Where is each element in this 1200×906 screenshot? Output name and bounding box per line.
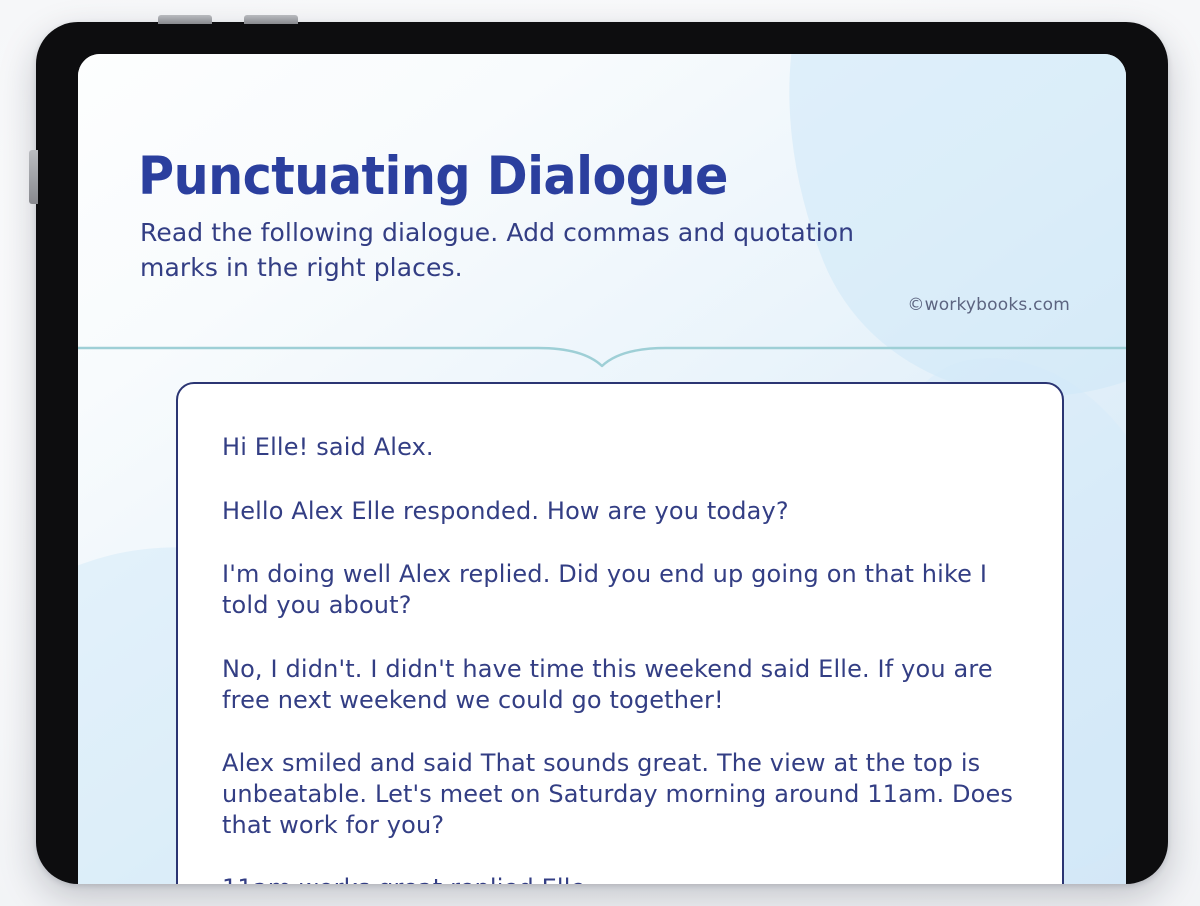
volume-down-button[interactable] xyxy=(244,15,298,24)
worksheet-instructions: Read the following dialogue. Add commas … xyxy=(140,216,930,285)
tablet-screen: Punctuating Dialogue Read the following … xyxy=(78,54,1126,884)
dialogue-line: Hi Elle! said Alex. xyxy=(222,432,1018,463)
dialogue-line: 11am works great replied Elle. xyxy=(222,873,1018,884)
tablet-device: Punctuating Dialogue Read the following … xyxy=(36,22,1168,884)
dialogue-card: Hi Elle! said Alex. Hello Alex Elle resp… xyxy=(176,382,1064,884)
dialogue-line: No, I didn't. I didn't have time this we… xyxy=(222,654,1018,715)
copyright-label: ©workybooks.com xyxy=(907,295,1070,315)
dialogue-line: I'm doing well Alex replied. Did you end… xyxy=(222,559,1018,620)
dialogue-line: Alex smiled and said That sounds great. … xyxy=(222,748,1018,840)
page-title: Punctuating Dialogue xyxy=(138,150,1008,204)
worksheet-header: Punctuating Dialogue Read the following … xyxy=(78,54,1126,285)
page-stage: Punctuating Dialogue Read the following … xyxy=(0,0,1200,906)
dialogue-line: Hello Alex Elle responded. How are you t… xyxy=(222,496,1018,527)
volume-up-button[interactable] xyxy=(158,15,212,24)
worksheet-page: Punctuating Dialogue Read the following … xyxy=(78,54,1126,884)
power-button[interactable] xyxy=(29,150,38,204)
decorative-divider xyxy=(78,326,1126,370)
